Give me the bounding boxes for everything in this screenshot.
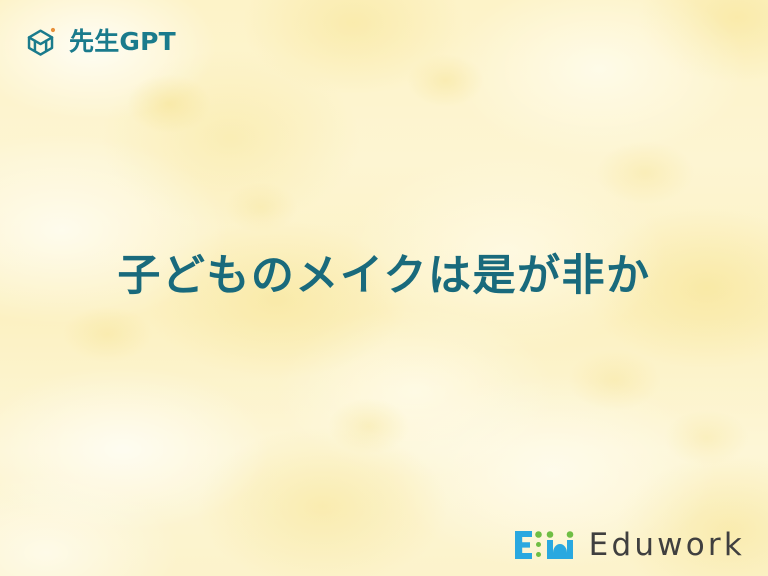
title-area: 子どものメイクは是が非か	[0, 222, 768, 331]
eduwork-wordmark: Eduwork	[589, 530, 745, 561]
eduwork-logo: Eduwork	[514, 528, 745, 562]
brand-name: 先生GPT	[69, 29, 176, 54]
brand-lockup: 先生GPT	[22, 22, 176, 60]
orange-dot-accent	[51, 28, 55, 32]
slide-canvas: 先生GPT 子どものメイクは是が非か Eduwork	[0, 0, 768, 576]
graduation-cap-hexagon-icon	[22, 22, 60, 60]
eduwork-logo-mark	[514, 528, 576, 562]
slide-title: 子どものメイクは是が非か	[117, 251, 650, 303]
